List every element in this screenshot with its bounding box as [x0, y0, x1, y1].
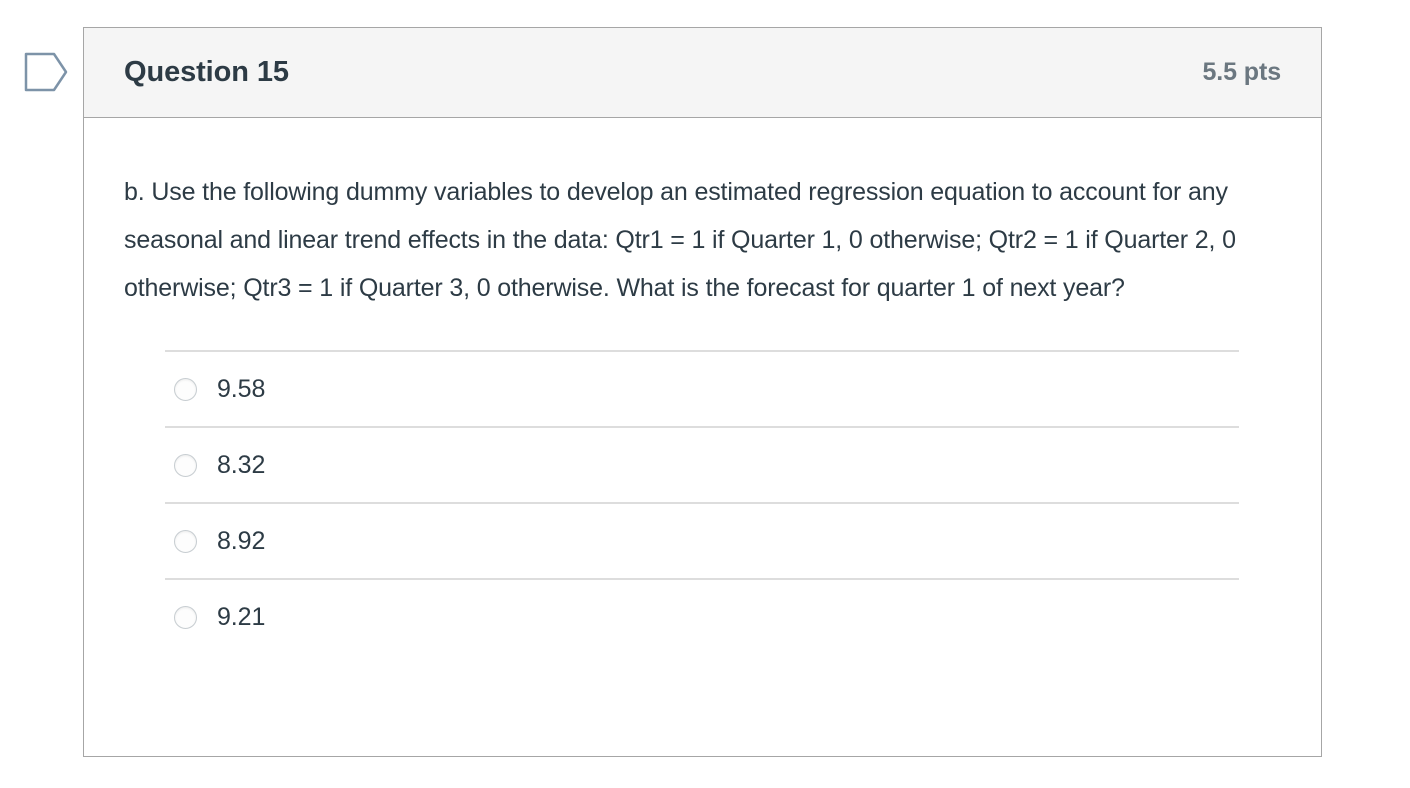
question-flag-marker[interactable] [24, 50, 70, 95]
answer-option-label: 8.32 [217, 451, 265, 480]
question-points-badge: 5.5 pts [1203, 58, 1282, 87]
question-card: Question 15 5.5 pts b. Use the following… [83, 27, 1322, 757]
answer-option-label: 9.58 [217, 375, 265, 404]
answer-option-row[interactable]: 8.32 [165, 426, 1239, 502]
radio-button-icon[interactable] [174, 378, 197, 401]
question-title: Question 15 [124, 56, 289, 89]
radio-button-icon[interactable] [174, 530, 197, 553]
answer-option-label: 8.92 [217, 527, 265, 556]
radio-button-icon[interactable] [174, 606, 197, 629]
question-body: b. Use the following dummy variables to … [84, 118, 1321, 654]
answer-option-row[interactable]: 8.92 [165, 502, 1239, 578]
radio-button-icon[interactable] [174, 454, 197, 477]
answer-option-label: 9.21 [217, 603, 265, 632]
question-header: Question 15 5.5 pts [84, 28, 1321, 118]
flag-bookmark-icon [24, 50, 70, 95]
answer-option-row[interactable]: 9.21 [165, 578, 1239, 654]
answer-option-row[interactable]: 9.58 [165, 350, 1239, 426]
answer-options-list: 9.58 8.32 8.92 9.21 [124, 350, 1281, 654]
question-prompt-text: b. Use the following dummy variables to … [124, 168, 1274, 312]
